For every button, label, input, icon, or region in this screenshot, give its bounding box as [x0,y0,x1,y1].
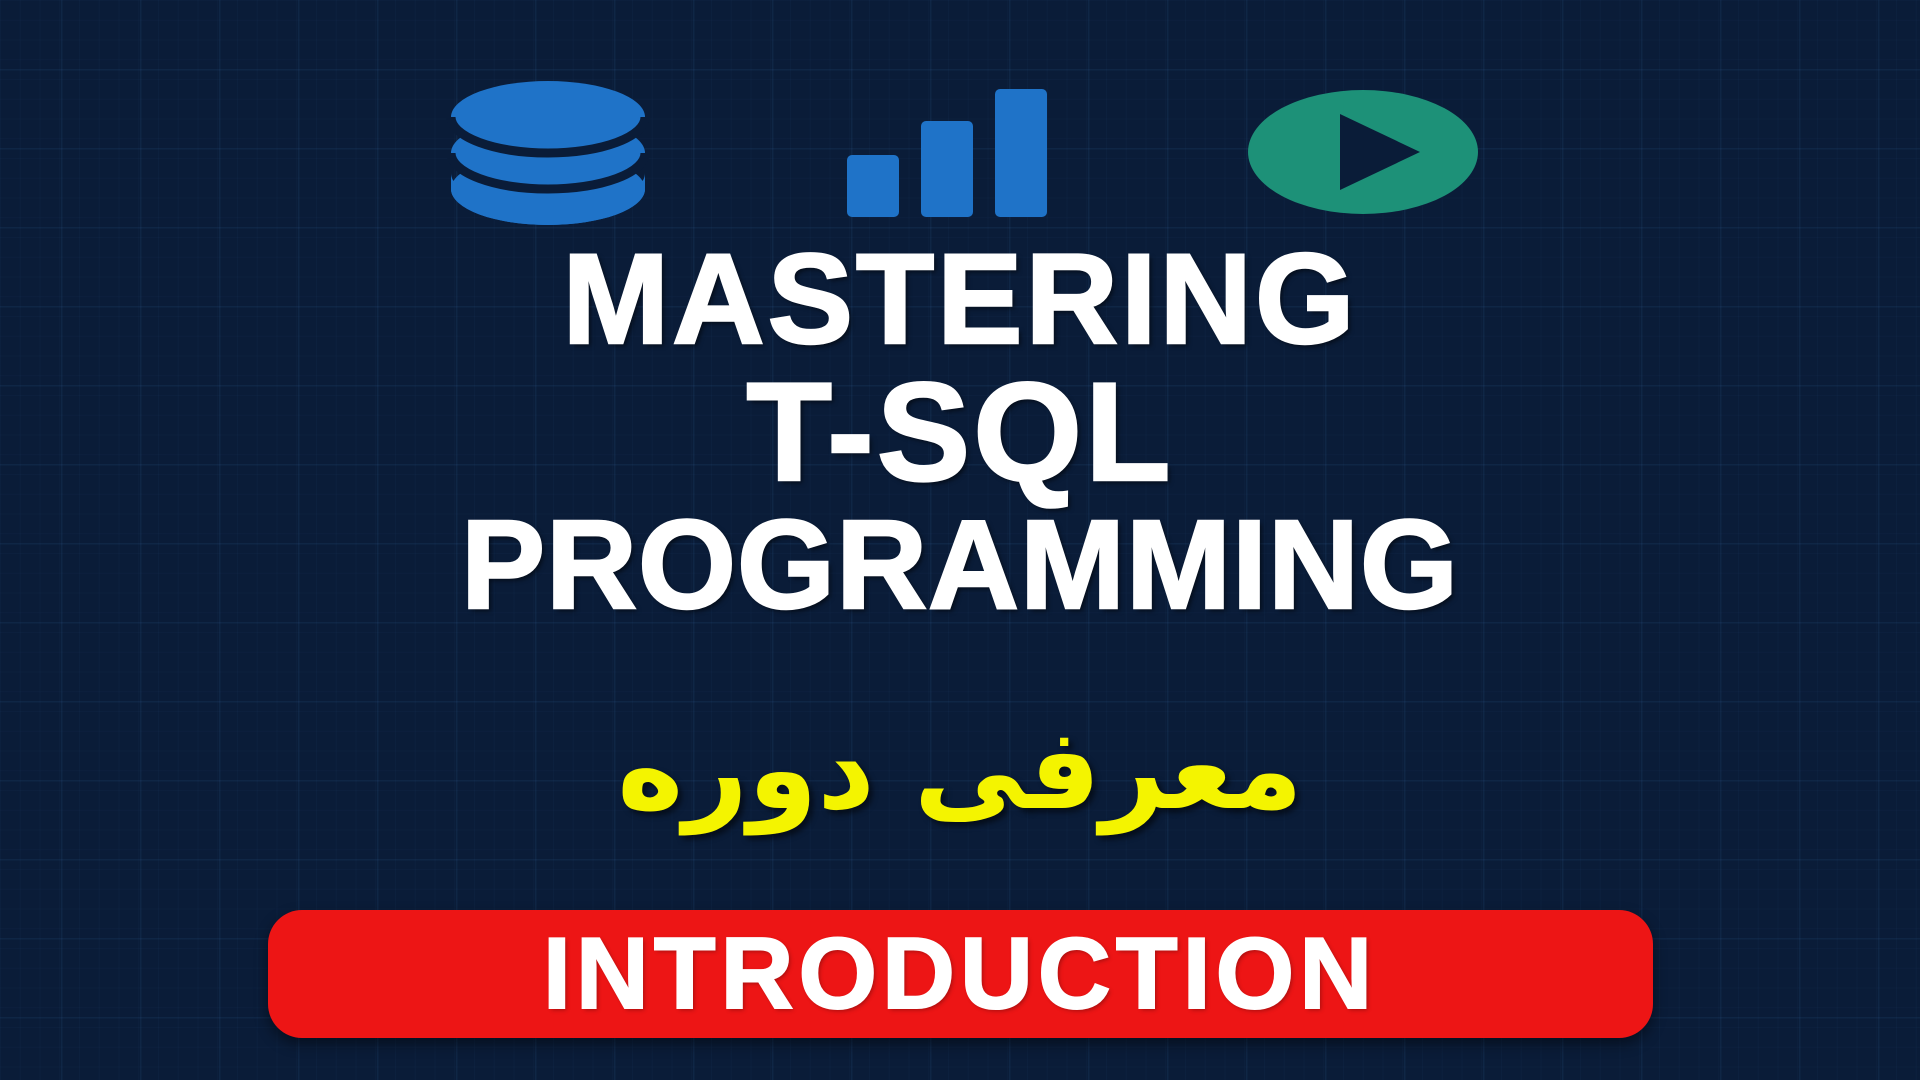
page-title: MASTERING T-SQL PROGRAMMING [0,238,1920,626]
introduction-banner-label: INTRODUCTION [543,917,1377,1032]
bar-chart-icon [843,87,1058,217]
database-icon [443,77,653,227]
title-line-mastering: MASTERING [0,238,1920,362]
course-thumbnail: MASTERING T-SQL PROGRAMMING معرفی دوره I… [0,0,1920,1080]
title-line-programming: PROGRAMMING [0,504,1920,626]
introduction-banner: INTRODUCTION [268,910,1653,1038]
introduction-banner-wrap: INTRODUCTION [0,910,1920,1038]
title-line-tsql: T-SQL [0,364,1920,500]
icon-row [0,72,1920,232]
persian-subtitle: معرفی دوره [0,700,1920,840]
play-button-icon [1248,87,1478,217]
